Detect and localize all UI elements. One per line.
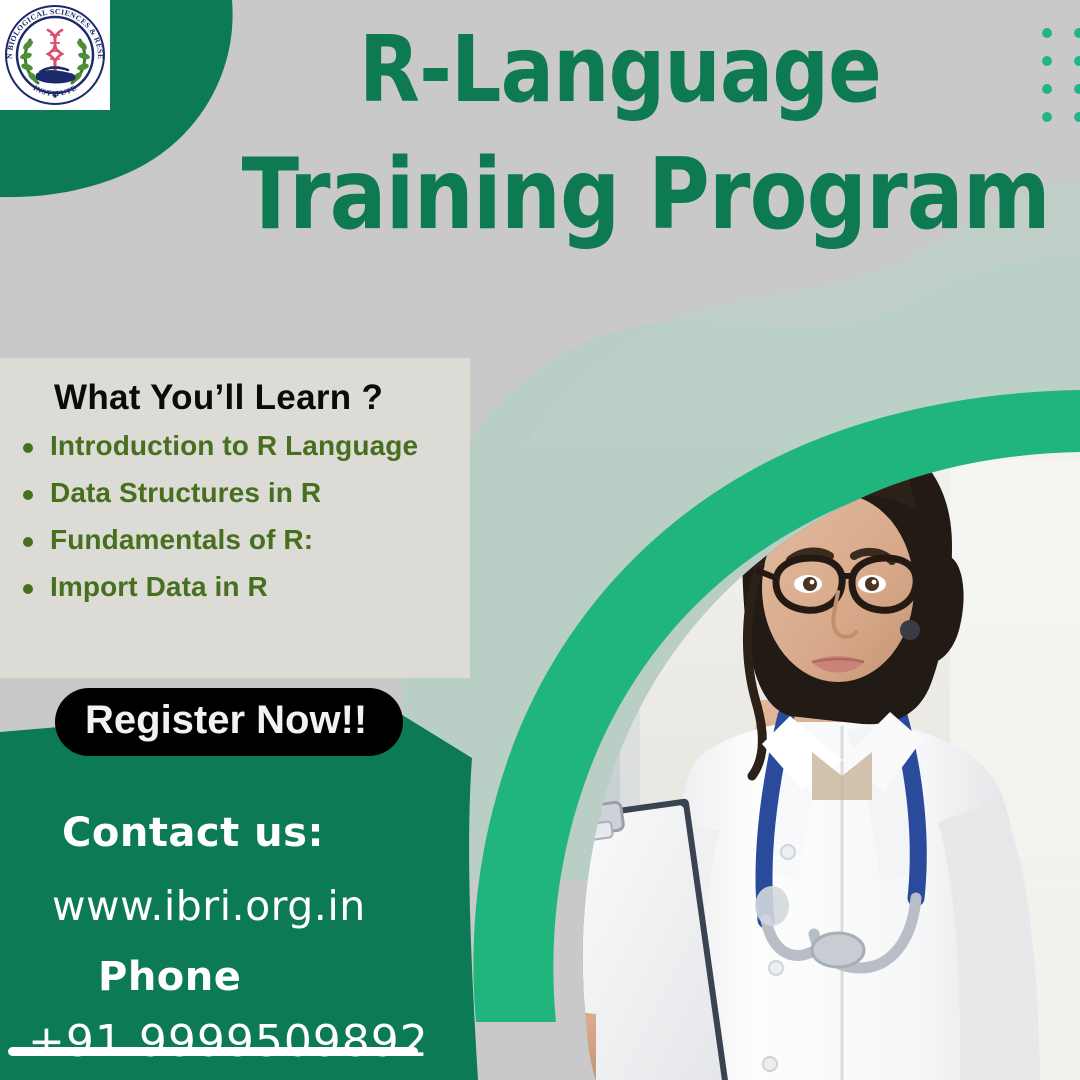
- bullet-icon: [23, 537, 33, 547]
- register-now-button[interactable]: Register Now!!: [55, 688, 403, 756]
- list-item-label: Introduction to R Language: [50, 430, 418, 461]
- contact-website[interactable]: www.ibri.org.in: [52, 882, 470, 930]
- list-item: Fundamentals of R:: [14, 524, 470, 556]
- list-item: Introduction to R Language: [14, 430, 470, 462]
- register-now-label: Register Now!!: [85, 700, 367, 740]
- title-line-2: Training Program: [242, 136, 999, 256]
- list-item: Import Data in R: [14, 571, 470, 603]
- list-item-label: Data Structures in R: [50, 477, 321, 508]
- ibri-logo-mark: INDIAN BIOLOGICAL SCIENCES & RESEARCH IN…: [0, 0, 110, 110]
- ibri-logo: INDIAN BIOLOGICAL SCIENCES & RESEARCH IN…: [0, 0, 110, 110]
- what-you-will-learn-panel: What You’ll Learn ? Introduction to R La…: [0, 358, 470, 678]
- contact-underline-rule: [8, 1047, 418, 1056]
- contact-phone-label: Phone: [98, 954, 470, 1000]
- bullet-icon: [23, 490, 33, 500]
- contact-phone-number[interactable]: +91 9999509892: [28, 1016, 470, 1067]
- decor-dot: [1074, 56, 1080, 66]
- bullet-icon: [23, 584, 33, 594]
- bullet-icon: [23, 443, 33, 453]
- contact-heading: Contact us:: [62, 810, 470, 856]
- learn-heading: What You’ll Learn ?: [0, 358, 470, 422]
- learn-items-list: Introduction to R Language Data Structur…: [0, 422, 470, 603]
- decor-dot: [1074, 112, 1080, 122]
- list-item-label: Fundamentals of R:: [50, 524, 313, 555]
- list-item-label: Import Data in R: [50, 571, 268, 602]
- decor-dot: [1074, 28, 1080, 38]
- list-item: Data Structures in R: [14, 477, 470, 509]
- decor-dot: [1074, 84, 1080, 94]
- title-line-1: R-Language: [242, 14, 999, 126]
- poster-canvas: INDIAN BIOLOGICAL SCIENCES & RESEARCH IN…: [0, 0, 1080, 1080]
- contact-section: Contact us: www.ibri.org.in Phone +91 99…: [0, 810, 470, 1067]
- poster-title: R-Language Training Program: [180, 14, 1060, 256]
